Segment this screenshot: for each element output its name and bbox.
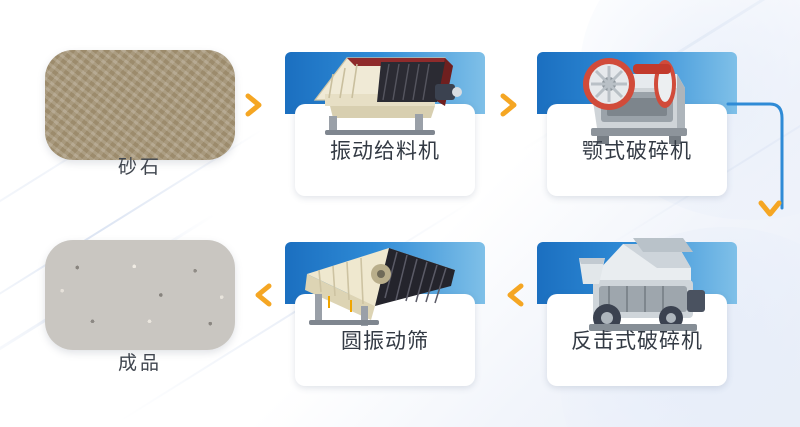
node-jaw-crusher: 颚式破碎机 [537,52,737,202]
chevron-right-icon [498,92,524,118]
node-finished-product-label: 成品 [45,348,235,375]
node-impact-crusher: 反击式破碎机 [537,242,737,392]
chevron-left-icon [500,282,526,308]
node-circular-vibrating-screen: 圆振动筛 [285,242,485,392]
chevron-down-icon [757,196,783,222]
node-jaw-crusher-label: 颚式破碎机 [547,104,727,196]
node-raw-material-photo [45,50,235,160]
rock-photo [45,50,235,160]
node-impact-crusher-label: 反击式破碎机 [547,294,727,386]
node-raw-material-label: 砂石 [45,152,235,179]
flow-diagram: 砂石 [0,0,800,427]
node-finished-product-photo [45,240,235,350]
gravel-photo [45,240,235,350]
node-vibrating-feeder-label: 振动给料机 [295,104,475,196]
chevron-right-icon [243,92,269,118]
chevron-left-icon [248,282,274,308]
node-circular-vibrating-screen-label: 圆振动筛 [295,294,475,386]
node-vibrating-feeder: 振动给料机 [285,52,485,202]
